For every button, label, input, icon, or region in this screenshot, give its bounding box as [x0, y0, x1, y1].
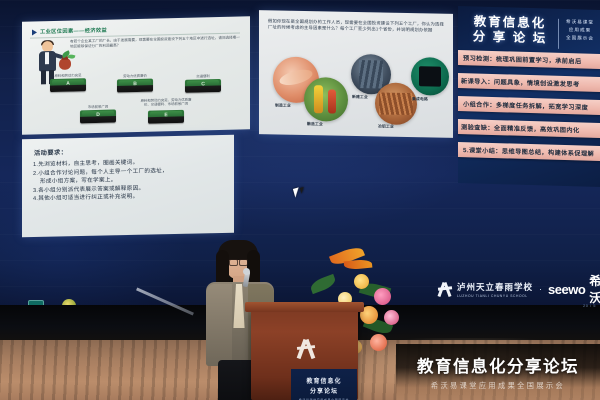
industry-label-1: 制造工业 — [275, 103, 291, 108]
plot-a-letter: A — [50, 80, 86, 87]
plot-b[interactable]: 劳动力优质廉价 B — [117, 79, 153, 93]
plot-d[interactable]: 市场前景广阔 D — [80, 109, 116, 123]
industry-label-2: 酿造工业 — [307, 122, 323, 127]
plot-b-letter: B — [117, 81, 153, 88]
plot-e-caption: 原料和劳动力充足、劳动力优质廉价、交通便利、市场前景广阔 — [138, 98, 194, 107]
school-mark-icon — [437, 282, 453, 297]
plot-e-letter: E — [148, 112, 184, 119]
requirements-list: 1.先浏览材料，自主思考，圈画关键词。 2.小组合作讨论问题，每个人主导一个工厂… — [33, 157, 225, 204]
seewo-brand-en: seewo — [548, 282, 585, 297]
podium-sign-line1: 教育信息化 — [306, 376, 341, 385]
plot-d-letter: D — [80, 111, 116, 118]
industry-label-3: 新建工业 — [352, 95, 368, 100]
forum-title-divider — [558, 19, 559, 49]
speaking-podium: 教育信息化 分享论坛 希沃易课堂应用成果全国展示会 — [251, 309, 358, 400]
bottom-title-banner: 教育信息化分享论坛 希沃易课堂应用成果全国展示会 — [396, 344, 600, 400]
plot-a-caption: 原料和劳动力充足 — [54, 72, 81, 78]
plot-b-caption: 劳动力优质廉价 — [123, 73, 147, 79]
forum-subtitle-block: 希沃易课堂 应用成果 全国展示会 — [562, 18, 598, 43]
slide-industry-planning[interactable]: 假如你现在是全国规划办的工作人员，现需要在全国投资建设下列五个工厂，你认为选择厂… — [259, 10, 453, 138]
plot-e[interactable]: 原料和劳动力充足、劳动力优质廉价、交通便利、市场前景广阔 E — [148, 110, 184, 124]
forum-agenda-list: 预习检测：梳理巩固前置学习，承前启后 新课导入：问题具象，情境创设激发思考 小组… — [458, 50, 600, 169]
school-name-block: 泸州天立春雨学校 LUZHOU TIANLI CHUNYU SCHOOL — [457, 281, 533, 298]
slide-activity-requirements[interactable]: 活动要求： 1.先浏览材料，自主思考，圈画关键词。 2.小组合作讨论问题，每个人… — [22, 135, 234, 237]
plot-c-letter: C — [185, 81, 221, 88]
industry-label-5: 集成电路 — [412, 97, 428, 102]
plot-c[interactable]: 交通便利 C — [185, 79, 221, 93]
agenda-row-1[interactable]: 预习检测：梳理巩固前置学习，承前启后 — [458, 50, 600, 69]
agenda-row-4[interactable]: 测验查缺：全面精准反馈，高效巩固内化 — [458, 119, 600, 138]
forum-title-line2: 分 享 论 坛 — [466, 29, 554, 46]
agenda-row-2[interactable]: 新课导入：问题具象，情境创设激发思考 — [458, 73, 600, 92]
agenda-row-5-text: 5.课堂小结：思维导图总结，构建体系促理解 — [458, 145, 594, 158]
slide-question-text: 有若个企业某工厂的厂长，由于发展需要，现需要在全国投资建设下列五个地区中进行选址… — [70, 35, 240, 50]
industry-photo-2[interactable] — [304, 77, 348, 122]
sponsor-logo-strip: 泸州天立春雨学校 LUZHOU TIANLI CHUNYU SCHOOL · s… — [437, 276, 600, 302]
presentation-screenshot: 工业区位因素——经济效益 有若个企业某工厂的厂长，由于发展需要，现需要在全国投资… — [0, 0, 600, 400]
podium-sign-line2: 分享论坛 — [310, 386, 338, 395]
industry-photo-4[interactable] — [375, 82, 417, 125]
mouse-cursor — [293, 187, 301, 197]
plot-d-caption: 市场前景广阔 — [88, 104, 108, 109]
agenda-row-3[interactable]: 小组合作：多梯度任务拆解，拓宽学习深度 — [458, 96, 600, 115]
triangle-bullet-icon — [32, 29, 37, 35]
school-name-en: LUZHOU TIANLI CHUNYU SCHOOL — [457, 294, 533, 298]
agenda-row-3-text: 小组合作：多梯度任务拆解，拓宽学习深度 — [458, 99, 588, 112]
slide-title-row: 工业区位因素——经济效益 — [32, 27, 107, 36]
school-name-cn: 泸州天立春雨学校 — [457, 281, 533, 293]
logo-separator: · — [539, 284, 542, 294]
banner-main-title: 教育信息化分享论坛 — [417, 353, 579, 377]
agenda-row-4-text: 测验查缺：全面精准反馈，高效巩固内化 — [458, 122, 580, 134]
requirements-heading: 活动要求： — [34, 147, 67, 157]
industry-photo-5[interactable] — [411, 57, 449, 96]
banner-subtitle: 希沃易课堂应用成果全国展示会 — [431, 381, 565, 391]
forum-board-title: 教育信息化 分 享 论 坛 — [466, 14, 554, 46]
timecode-text: 20 / 5 — [583, 303, 596, 308]
forum-subtitle-line3: 全国展示会 — [562, 34, 598, 43]
eyeglasses-icon — [229, 259, 248, 264]
agenda-row-5[interactable]: 5.课堂小结：思维导图总结，构建体系促理解 — [458, 142, 600, 161]
plot-a[interactable]: 原料和劳动力充足 A — [50, 78, 86, 92]
plot-c-caption: 交通便利 — [196, 73, 210, 78]
agenda-row-1-text: 预习检测：梳理巩固前置学习，承前启后 — [458, 53, 582, 65]
slide-title-text: 工业区位因素——经济效益 — [40, 27, 107, 36]
seewo-brand-cn: 希沃 — [589, 272, 600, 306]
slide-industrial-location[interactable]: 工业区位因素——经济效益 有若个企业某工厂的厂长，由于发展需要，现需要在全国投资… — [22, 16, 250, 135]
industry-label-4: 冶铝工业 — [378, 124, 394, 129]
agenda-row-2-text: 新课导入：问题具象，情境创设激发思考 — [458, 76, 580, 88]
planning-question-text: 假如你现在是全国规划办的工作人员，现需要在全国投资建设下列五个工厂，你认为选择厂… — [268, 18, 444, 34]
podium-sign: 教育信息化 分享论坛 希沃易课堂应用成果全国展示会 — [291, 369, 357, 400]
forum-program-board[interactable]: 教育信息化 分 享 论 坛 希沃易课堂 应用成果 全国展示会 预习检测：梳理巩固… — [458, 6, 600, 187]
school-logo-icon — [295, 339, 317, 359]
plot-group: 原料和劳动力充足 A 劳动力优质廉价 B 交通便利 C 市场前景广阔 D 原料和… — [22, 56, 250, 132]
